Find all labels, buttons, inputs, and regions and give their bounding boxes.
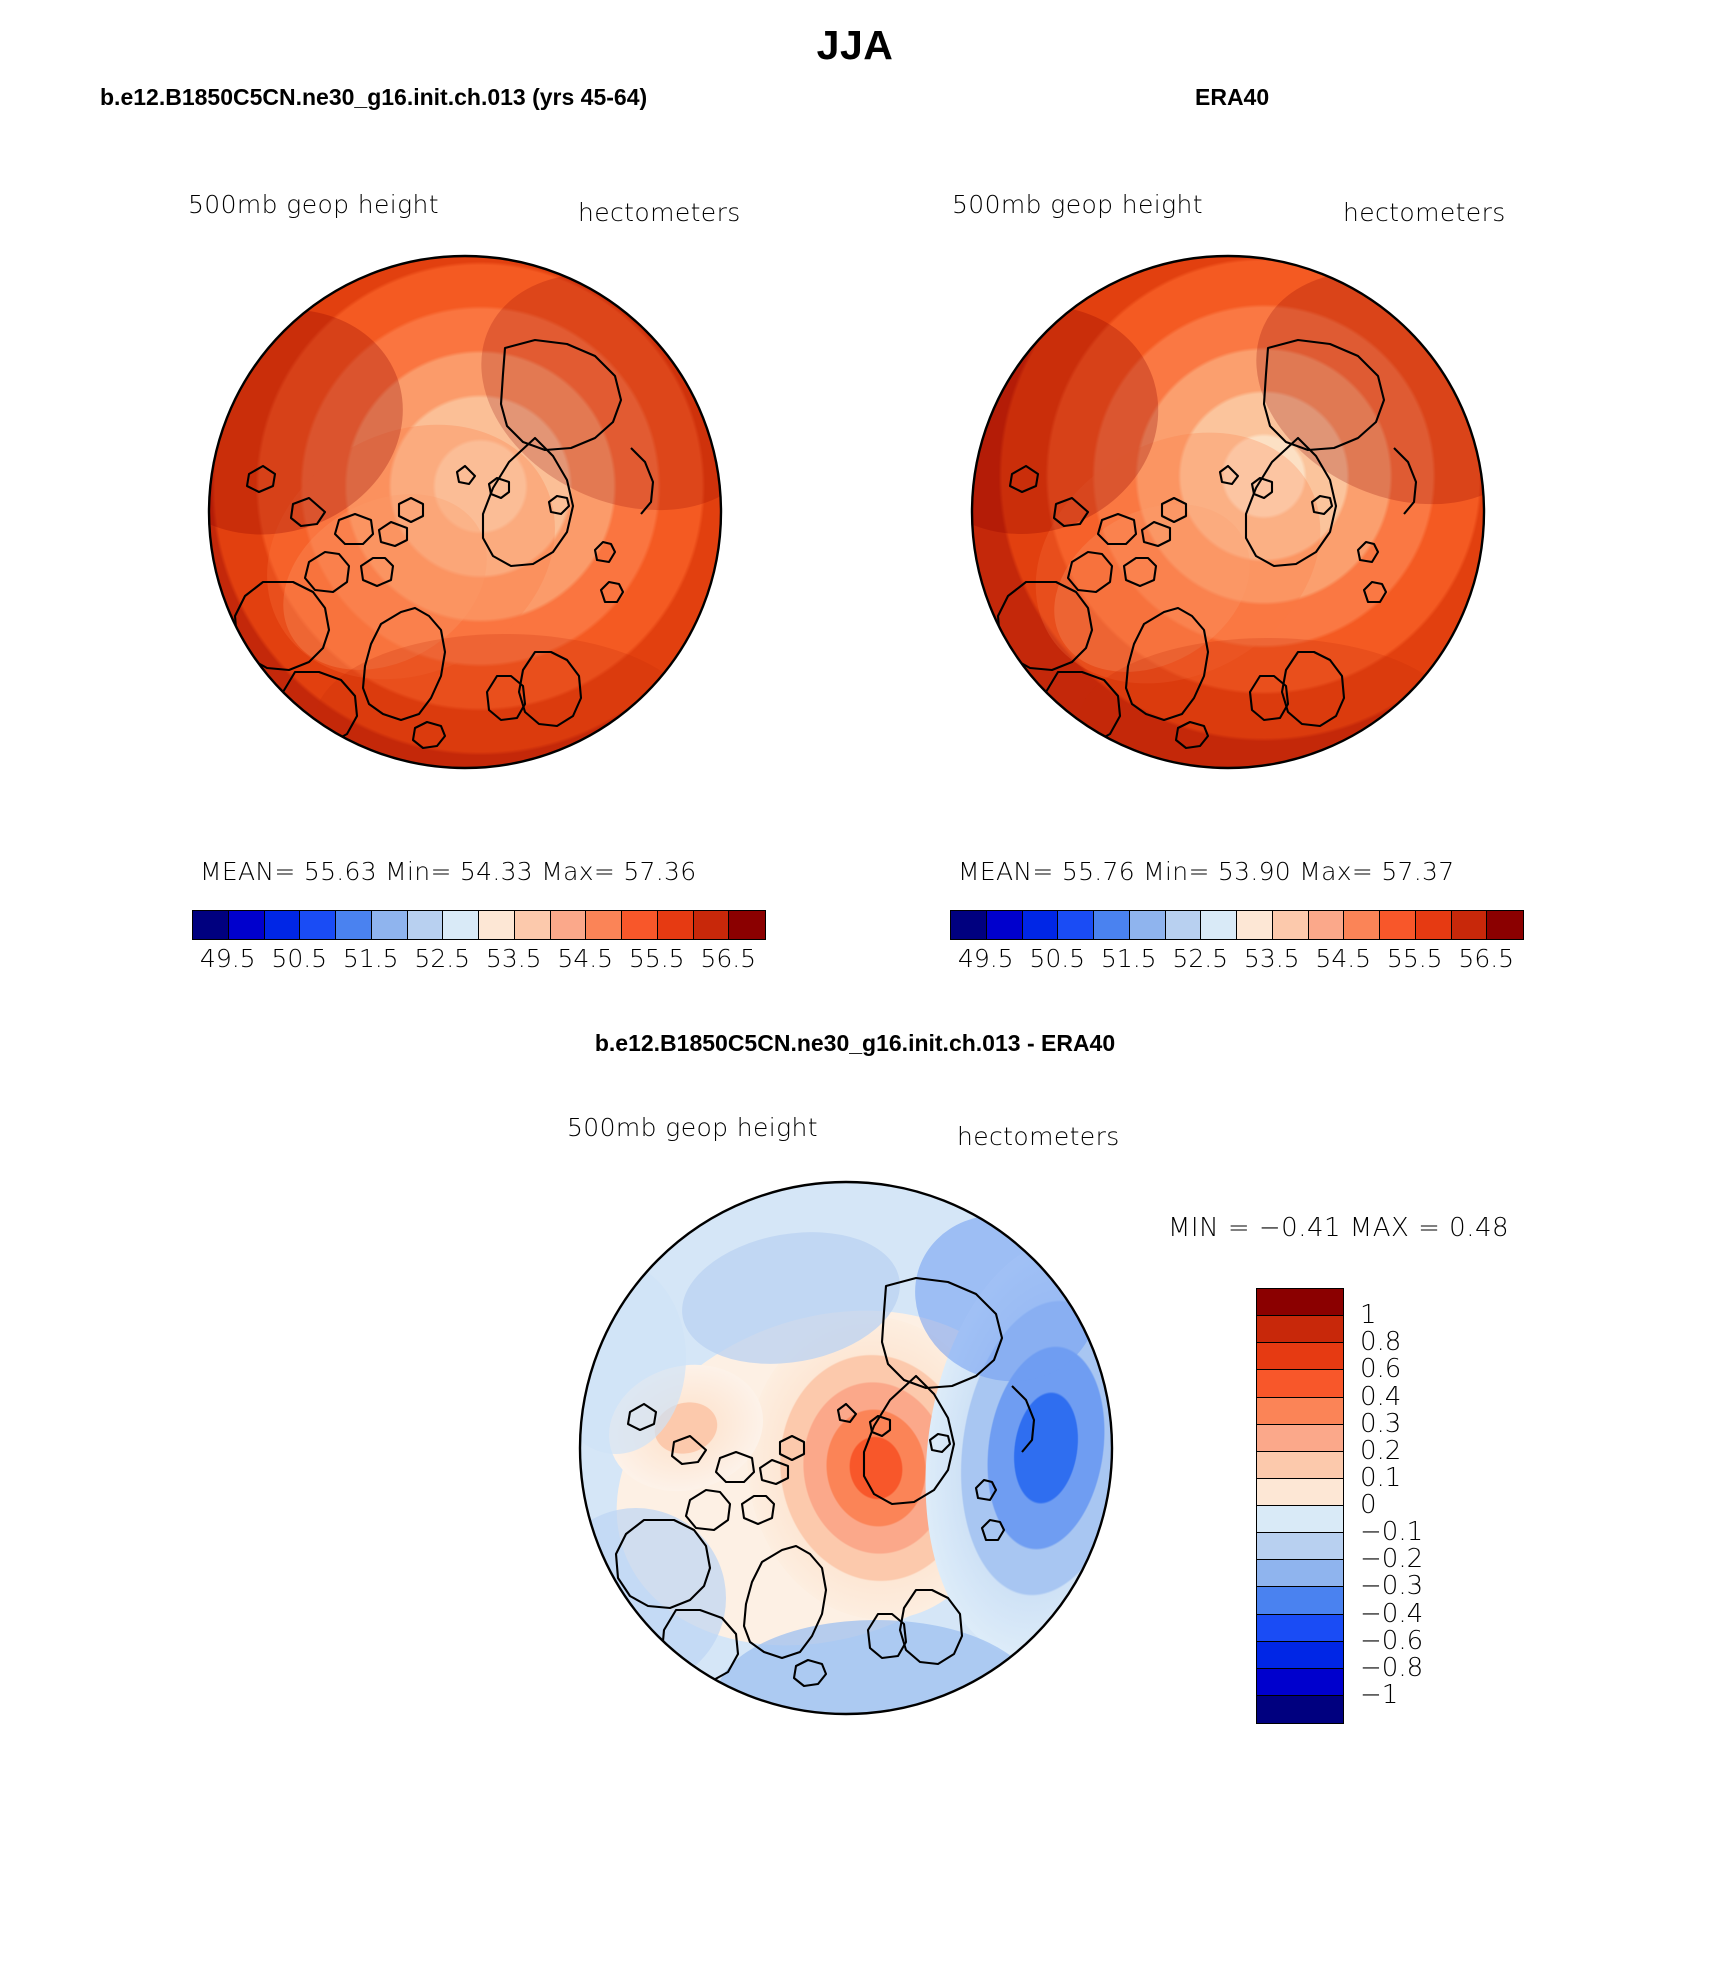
colorbar-cell-8 [1237, 911, 1273, 939]
colorbar-cell-4 [336, 911, 372, 939]
colorbar-tick: 51.5 [343, 944, 399, 973]
colorbar-tick: 49.5 [958, 944, 1014, 973]
right-field-label: 500mb geop height [952, 190, 1203, 219]
diff-colorbar-tick: −0.4 [1360, 1599, 1423, 1629]
colorbar-cell-1 [229, 911, 265, 939]
colorbar-cell-9 [515, 911, 551, 939]
diff-colorbar[interactable] [1256, 1288, 1344, 1724]
colorbar-cell-2 [1023, 911, 1059, 939]
colorbar-cell-15 [1487, 911, 1523, 939]
diff-colorbar-cell-0 [1257, 1289, 1343, 1316]
right-colorbar[interactable] [950, 910, 1524, 940]
diff-colorbar-tick: 0.8 [1360, 1327, 1401, 1357]
diff-colorbar-tick: 1 [1360, 1300, 1377, 1330]
colorbar-cell-12 [622, 911, 658, 939]
colorbar-tick: 56.5 [1458, 944, 1514, 973]
diff-colorbar-tick: −0.8 [1360, 1653, 1423, 1683]
colorbar-cell-10 [551, 911, 587, 939]
colorbar-cell-2 [265, 911, 301, 939]
right-polar-map [968, 252, 1488, 772]
colorbar-tick: 56.5 [700, 944, 756, 973]
diff-colorbar-tick: −1 [1360, 1680, 1398, 1710]
diff-colorbar-cell-9 [1257, 1533, 1343, 1560]
colorbar-cell-6 [1166, 911, 1202, 939]
colorbar-cell-0 [193, 911, 229, 939]
diff-polar-map [576, 1178, 1116, 1718]
colorbar-cell-9 [1273, 911, 1309, 939]
colorbar-cell-5 [372, 911, 408, 939]
diff-field-label: 500mb geop height [567, 1113, 818, 1142]
colorbar-tick: 53.5 [1244, 944, 1300, 973]
colorbar-tick: 52.5 [414, 944, 470, 973]
colorbar-cell-7 [1201, 911, 1237, 939]
colorbar-cell-7 [443, 911, 479, 939]
diff-colorbar-tick: 0 [1360, 1490, 1377, 1520]
diff-colorbar-cell-15 [1257, 1696, 1343, 1723]
colorbar-tick: 54.5 [557, 944, 613, 973]
main-title: JJA [0, 22, 1710, 69]
left-colorbar[interactable] [192, 910, 766, 940]
right-units-label: hectometers [1343, 198, 1506, 227]
diff-colorbar-tick: −0.1 [1360, 1517, 1423, 1547]
diff-colorbar-tick: 0.3 [1360, 1409, 1401, 1439]
colorbar-tick: 49.5 [200, 944, 256, 973]
colorbar-cell-4 [1094, 911, 1130, 939]
diff-colorbar-tick: 0.2 [1360, 1436, 1401, 1466]
colorbar-tick: 50.5 [271, 944, 327, 973]
colorbar-cell-3 [1058, 911, 1094, 939]
colorbar-cell-3 [300, 911, 336, 939]
left-colorbar-ticks: 49.550.551.552.553.554.555.556.5 [192, 944, 764, 978]
left-stats: MEAN= 55.63 Min= 54.33 Max= 57.36 [200, 857, 696, 886]
colorbar-cell-0 [951, 911, 987, 939]
diff-colorbar-cell-14 [1257, 1669, 1343, 1696]
diff-panel-title: b.e12.B1850C5CN.ne30_g16.init.ch.013 - E… [0, 1030, 1710, 1057]
colorbar-tick: 52.5 [1172, 944, 1228, 973]
diff-colorbar-cell-10 [1257, 1560, 1343, 1587]
right-colorbar-ticks: 49.550.551.552.553.554.555.556.5 [950, 944, 1522, 978]
diff-colorbar-cell-13 [1257, 1642, 1343, 1669]
colorbar-tick: 55.5 [629, 944, 685, 973]
diff-colorbar-cell-12 [1257, 1615, 1343, 1642]
left-polar-map [205, 252, 725, 772]
colorbar-cell-6 [408, 911, 444, 939]
colorbar-cell-12 [1380, 911, 1416, 939]
right-stats: MEAN= 55.76 Min= 53.90 Max= 57.37 [958, 857, 1454, 886]
diff-colorbar-cell-4 [1257, 1398, 1343, 1425]
colorbar-tick: 51.5 [1101, 944, 1157, 973]
left-field-label: 500mb geop height [188, 190, 439, 219]
colorbar-tick: 50.5 [1029, 944, 1085, 973]
diff-colorbar-cell-3 [1257, 1370, 1343, 1397]
colorbar-tick: 54.5 [1315, 944, 1371, 973]
diff-colorbar-cell-8 [1257, 1506, 1343, 1533]
diff-colorbar-cell-6 [1257, 1452, 1343, 1479]
colorbar-cell-15 [729, 911, 765, 939]
diff-colorbar-cell-11 [1257, 1587, 1343, 1614]
left-units-label: hectometers [578, 198, 741, 227]
diff-colorbar-cell-7 [1257, 1479, 1343, 1506]
colorbar-cell-11 [1344, 911, 1380, 939]
colorbar-cell-10 [1309, 911, 1345, 939]
left-panel-title: b.e12.B1850C5CN.ne30_g16.init.ch.013 (yr… [100, 84, 647, 111]
diff-colorbar-tick: 0.4 [1360, 1382, 1401, 1412]
diff-colorbar-ticks: 10.80.60.40.30.20.10−0.1−0.2−0.3−0.4−0.6… [1360, 1288, 1490, 1722]
right-panel-title: ERA40 [1195, 84, 1269, 111]
colorbar-cell-13 [658, 911, 694, 939]
diff-colorbar-tick: −0.6 [1360, 1626, 1423, 1656]
diff-colorbar-tick: 0.1 [1360, 1463, 1401, 1493]
colorbar-cell-13 [1416, 911, 1452, 939]
colorbar-cell-14 [1452, 911, 1488, 939]
diff-colorbar-tick: 0.6 [1360, 1354, 1401, 1384]
colorbar-cell-8 [479, 911, 515, 939]
colorbar-tick: 55.5 [1387, 944, 1443, 973]
diff-minmax: MIN = −0.41 MAX = 0.48 [1168, 1213, 1509, 1243]
diff-colorbar-tick: −0.3 [1360, 1571, 1423, 1601]
colorbar-tick: 53.5 [486, 944, 542, 973]
diff-colorbar-tick: −0.2 [1360, 1544, 1423, 1574]
colorbar-cell-14 [694, 911, 730, 939]
diff-colorbar-cell-2 [1257, 1343, 1343, 1370]
diff-colorbar-cell-1 [1257, 1316, 1343, 1343]
diff-units-label: hectometers [957, 1122, 1120, 1151]
colorbar-cell-11 [586, 911, 622, 939]
colorbar-cell-1 [987, 911, 1023, 939]
colorbar-cell-5 [1130, 911, 1166, 939]
diff-colorbar-cell-5 [1257, 1425, 1343, 1452]
